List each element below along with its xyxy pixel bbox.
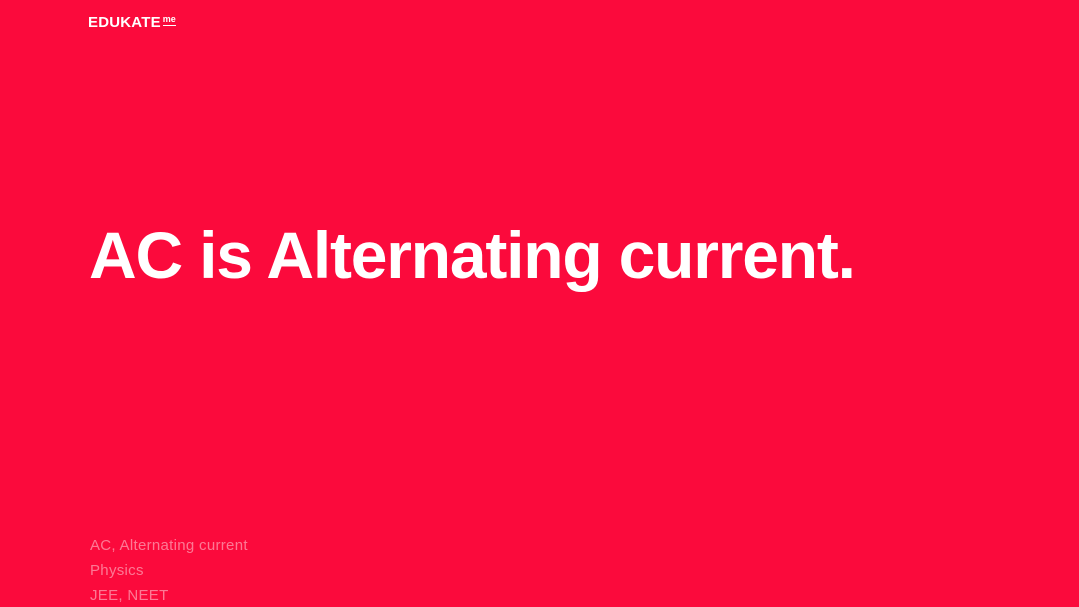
brand-logo-suffix: me xyxy=(163,15,176,26)
meta-line-topic: AC, Alternating current xyxy=(90,533,690,558)
meta-line-exams: JEE, NEET xyxy=(90,583,690,607)
slide-canvas: EDUKATE me AC is Alternating current. AC… xyxy=(0,0,1079,607)
meta-line-subject: Physics xyxy=(90,558,690,583)
brand-logo[interactable]: EDUKATE me xyxy=(88,15,176,31)
slide-headline: AC is Alternating current. xyxy=(89,218,989,292)
brand-logo-word: EDUKATE xyxy=(88,15,161,31)
slide-meta-block: AC, Alternating current Physics JEE, NEE… xyxy=(90,533,690,607)
